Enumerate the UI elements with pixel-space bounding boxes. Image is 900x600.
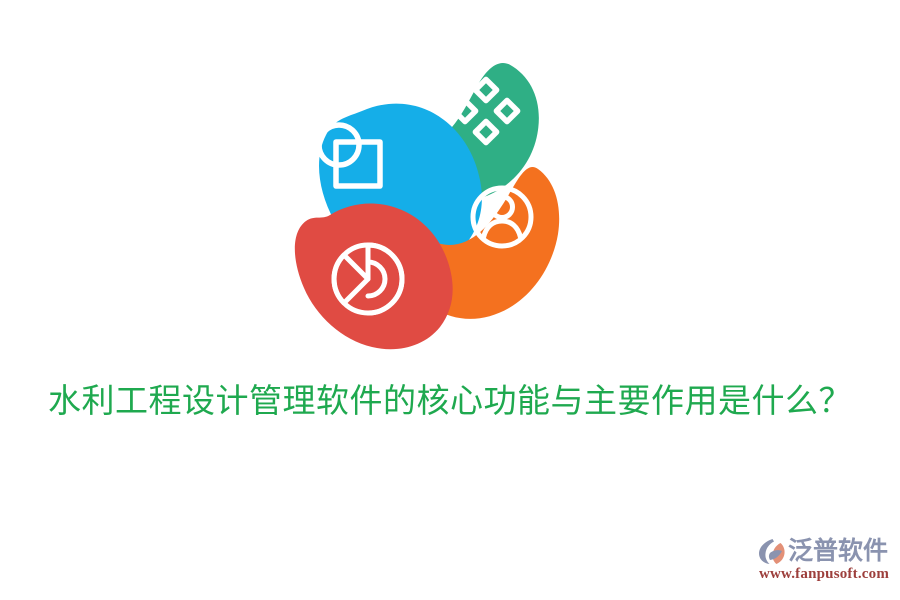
- watermark-url: www.fanpusoft.com: [758, 566, 890, 583]
- watermark-brand-name: 泛普软件: [788, 538, 888, 565]
- hero-illustration: [270, 50, 570, 360]
- watermark: 泛普软件 www.fanpusoft.com: [758, 536, 890, 584]
- page-title: 水利工程设计管理软件的核心功能与主要作用是什么？: [0, 382, 900, 422]
- page-root: 水利工程设计管理软件的核心功能与主要作用是什么？ 泛普软件 www.fanpus…: [0, 0, 900, 600]
- watermark-brand-row: 泛普软件: [758, 536, 890, 566]
- fanpu-logo-mark-icon: [758, 538, 786, 565]
